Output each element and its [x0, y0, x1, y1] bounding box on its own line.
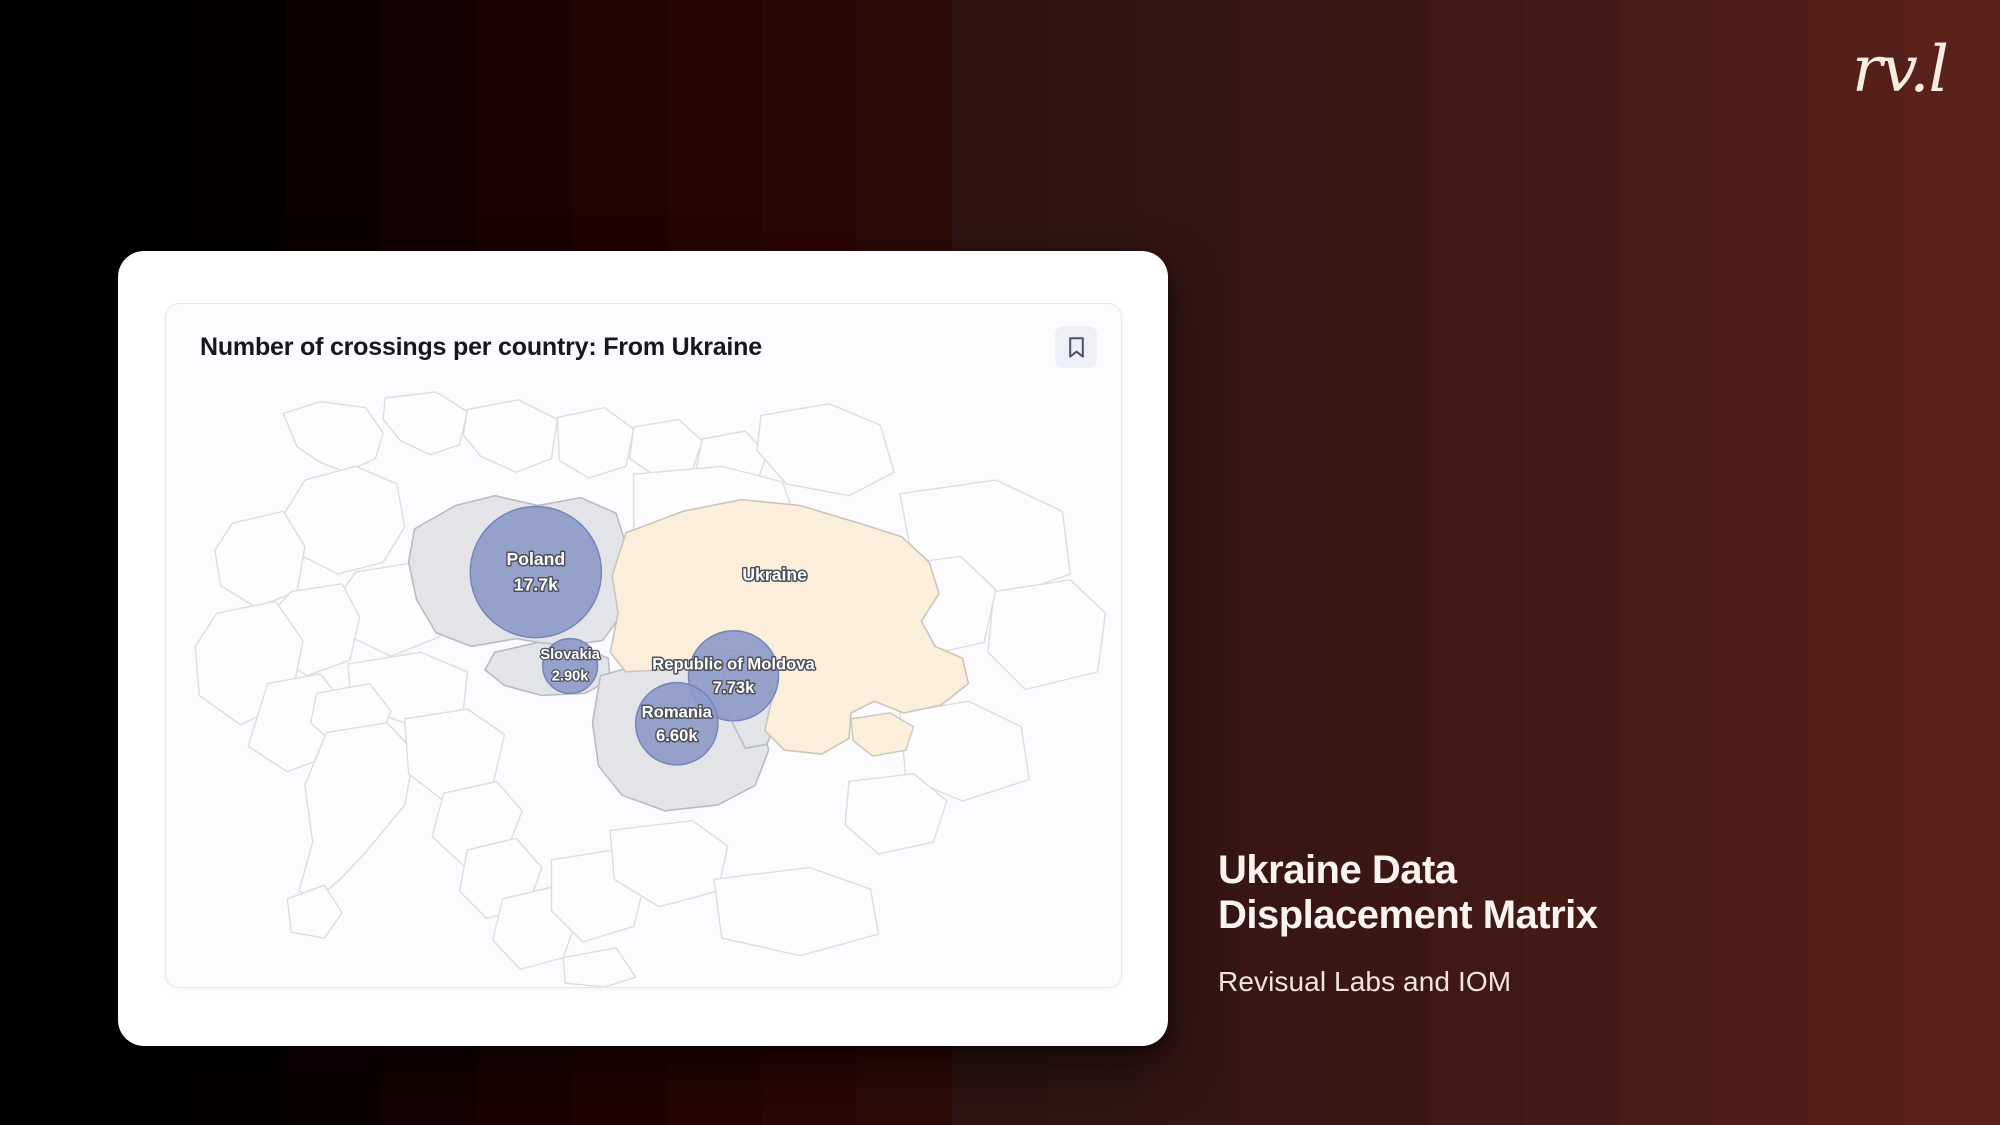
bubble-label-poland-value: 17.7k	[514, 574, 558, 594]
caption-subtitle: Revisual Labs and IOM	[1218, 966, 1838, 998]
map-label-ukraine: Ukraine	[742, 565, 807, 585]
chart-panel: Number of crossings per country: From Uk…	[165, 303, 1122, 988]
background-stripe-20	[1905, 0, 2000, 1125]
bubble-label-romania-value: 6.60k	[656, 726, 698, 745]
brand-logo: rv.l	[1852, 38, 1948, 102]
chart-title: Number of crossings per country: From Uk…	[200, 333, 762, 362]
bookmark-icon	[1067, 336, 1086, 359]
bubble-romania[interactable]	[636, 683, 718, 765]
bubble-poland[interactable]	[470, 506, 601, 637]
bubble-label-republic-of-moldova-value: 7.73k	[713, 678, 755, 697]
caption-block: Ukraine Data Displacement Matrix Revisua…	[1218, 848, 1838, 998]
bubble-map[interactable]: Ukraine Poland	[166, 390, 1121, 987]
bookmark-button[interactable]	[1055, 326, 1097, 368]
panel-header: Number of crossings per country: From Uk…	[166, 304, 1121, 390]
bubble-label-slovakia-name: Slovakia	[540, 647, 600, 663]
visualization-card: Number of crossings per country: From Uk…	[118, 251, 1168, 1046]
map-svg: Ukraine Poland	[166, 390, 1121, 987]
caption-title: Ukraine Data Displacement Matrix	[1218, 848, 1838, 938]
screenshot-root: rv.l Number of crossings per country: Fr…	[0, 0, 2000, 1125]
bubble-label-poland-name: Poland	[506, 549, 565, 569]
bubble-label-republic-of-moldova-name: Republic of Moldova	[652, 654, 815, 673]
bubble-label-slovakia-value: 2.90k	[552, 669, 590, 685]
background-stripe-0	[0, 0, 95, 1125]
bubble-label-romania-name: Romania	[642, 702, 713, 721]
